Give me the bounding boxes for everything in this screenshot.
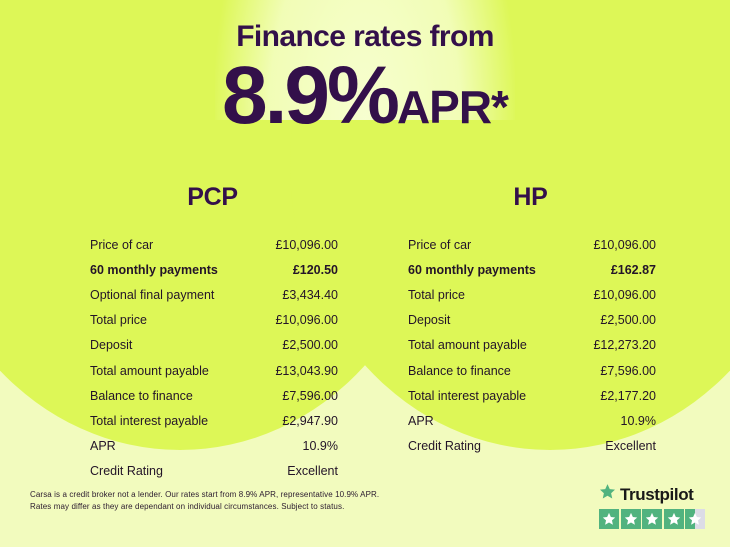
table-row: Optional final payment£3,434.40 (75, 282, 350, 307)
row-label: 60 monthly payments (90, 263, 218, 277)
row-value: £162.87 (611, 263, 656, 277)
row-label: Total amount payable (408, 338, 527, 352)
row-label: Optional final payment (90, 288, 214, 302)
headline-rate-number: 8.9% (222, 50, 397, 141)
trustpilot-logo: Trustpilot (599, 483, 712, 505)
trustpilot-half-star-icon (685, 509, 705, 529)
row-value: £2,947.90 (282, 414, 338, 428)
row-label: Total price (90, 313, 147, 327)
table-row: Total interest payable£2,177.20 (393, 383, 668, 408)
row-value: Excellent (605, 439, 656, 453)
trustpilot-full-star-icon (664, 509, 684, 529)
table-row: Total amount payable£12,273.20 (393, 333, 668, 358)
table-row: APR10.9% (75, 434, 350, 459)
table-row: Price of car£10,096.00 (393, 232, 668, 257)
trustpilot-star-icon (599, 483, 616, 505)
table-row: Deposit£2,500.00 (75, 333, 350, 358)
row-label: Total amount payable (90, 364, 209, 378)
table-row: Total price£10,096.00 (393, 282, 668, 307)
row-label: Credit Rating (408, 439, 481, 453)
table-row: 60 monthly payments£162.87 (393, 257, 668, 282)
promo-banner: Finance rates from 8.9%APR* PCP Price of… (0, 0, 730, 547)
trustpilot-full-star-icon (642, 509, 662, 529)
row-value: £2,500.00 (282, 338, 338, 352)
table-row: Credit RatingExcellent (393, 434, 668, 459)
row-label: Balance to finance (90, 389, 193, 403)
finance-table-hp: HP Price of car£10,096.0060 monthly paym… (393, 183, 668, 459)
page-title: Finance rates from (0, 20, 730, 54)
table-row: APR10.9% (393, 408, 668, 433)
table-row: Total amount payable£13,043.90 (75, 358, 350, 383)
table-rows-hp: Price of car£10,096.0060 monthly payment… (393, 232, 668, 459)
row-value: £3,434.40 (282, 288, 338, 302)
row-value: £7,596.00 (282, 389, 338, 403)
row-value: £2,177.20 (600, 389, 656, 403)
table-rows-pcp: Price of car£10,096.0060 monthly payment… (75, 232, 350, 484)
headline-rate: 8.9%APR* (0, 55, 730, 137)
table-row: Deposit£2,500.00 (393, 308, 668, 333)
table-row: Total interest payable£2,947.90 (75, 408, 350, 433)
row-value: £10,096.00 (593, 238, 656, 252)
row-value: £120.50 (293, 263, 338, 277)
row-value: £2,500.00 (600, 313, 656, 327)
table-row: Credit RatingExcellent (75, 459, 350, 484)
row-label: Price of car (90, 238, 153, 252)
trustpilot-wordmark: Trustpilot (620, 486, 693, 503)
row-value: £10,096.00 (593, 288, 656, 302)
row-label: Price of car (408, 238, 471, 252)
trustpilot-full-star-icon (621, 509, 641, 529)
disclaimer-line-2: Rates may differ as they are dependant o… (30, 501, 379, 513)
row-value: Excellent (287, 464, 338, 478)
disclaimer-line-1: Carsa is a credit broker not a lender. O… (30, 489, 379, 501)
table-row: Price of car£10,096.00 (75, 232, 350, 257)
row-label: APR (90, 439, 116, 453)
row-label: Credit Rating (90, 464, 163, 478)
row-label: Deposit (90, 338, 132, 352)
trustpilot-widget[interactable]: Trustpilot (599, 483, 712, 529)
column-title-pcp: PCP (75, 183, 350, 212)
row-label: 60 monthly payments (408, 263, 536, 277)
row-value: £10,096.00 (275, 238, 338, 252)
row-label: Deposit (408, 313, 450, 327)
row-value: £13,043.90 (275, 364, 338, 378)
table-row: Balance to finance£7,596.00 (75, 383, 350, 408)
row-label: Total interest payable (408, 389, 526, 403)
row-label: Total price (408, 288, 465, 302)
table-row: 60 monthly payments£120.50 (75, 257, 350, 282)
row-value: 10.9% (621, 414, 656, 428)
table-row: Balance to finance£7,596.00 (393, 358, 668, 383)
finance-table-pcp: PCP Price of car£10,096.0060 monthly pay… (75, 183, 350, 484)
row-value: 10.9% (303, 439, 338, 453)
trustpilot-star-rating (599, 509, 712, 529)
row-label: Total interest payable (90, 414, 208, 428)
row-value: £10,096.00 (275, 313, 338, 327)
headline-rate-suffix: APR* (397, 81, 508, 133)
disclaimer: Carsa is a credit broker not a lender. O… (30, 489, 379, 514)
row-value: £7,596.00 (600, 364, 656, 378)
column-title-hp: HP (393, 183, 668, 212)
row-value: £12,273.20 (593, 338, 656, 352)
row-label: Balance to finance (408, 364, 511, 378)
trustpilot-full-star-icon (599, 509, 619, 529)
row-label: APR (408, 414, 434, 428)
table-row: Total price£10,096.00 (75, 308, 350, 333)
